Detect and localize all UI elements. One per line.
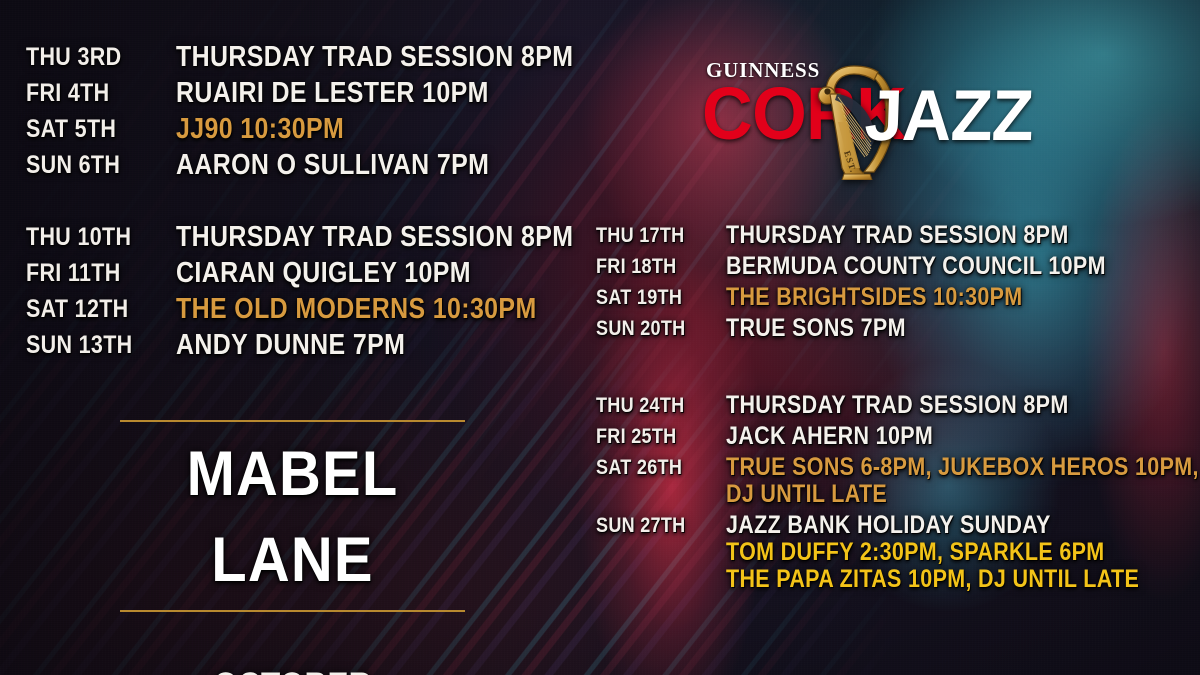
listing-event: THURSDAY TRAD SESSION 8PM	[176, 42, 573, 73]
listing-row: THU 10THTHURSDAY TRAD SESSION 8PM	[26, 222, 638, 253]
listing-event: RUAIRI DE LESTER 10PM	[176, 78, 489, 109]
listing-date: SAT 26TH	[596, 454, 708, 481]
listing-event-line: THE PAPA ZITAS 10PM, DJ UNTIL LATE	[726, 566, 1139, 593]
venue-lockup: MABEL LANE OCTOBER ENTERTAINMENT	[120, 420, 465, 675]
listing-date: THU 24TH	[596, 392, 708, 419]
listing-event-line: JJ90 10:30PM	[176, 114, 344, 145]
listing-event: THURSDAY TRAD SESSION 8PM	[176, 222, 573, 253]
listing-row: THU 3RDTHURSDAY TRAD SESSION 8PM	[26, 42, 638, 73]
listing-event-line: TOM DUFFY 2:30PM, SPARKLE 6PM	[726, 539, 1139, 566]
listing-event-line: THURSDAY TRAD SESSION 8PM	[176, 42, 573, 73]
listing-date: THU 10TH	[26, 222, 155, 252]
listing-row: SUN 27THJAZZ BANK HOLIDAY SUNDAYTOM DUFF…	[596, 512, 1200, 593]
listing-row: FRI 25THJACK AHERN 10PM	[596, 423, 1200, 450]
listing-block-week-1: THU 3RDTHURSDAY TRAD SESSION 8PMFRI 4THR…	[26, 42, 638, 186]
listing-date: SAT 5TH	[26, 114, 155, 144]
listing-event-line: TRUE SONS 7PM	[726, 315, 906, 342]
listing-date: THU 3RD	[26, 42, 155, 72]
listing-event-line: THE BRIGHTSIDES 10:30PM	[726, 284, 1023, 311]
listing-row: SUN 6THAARON O SULLIVAN 7PM	[26, 150, 638, 181]
listing-event-line: AARON O SULLIVAN 7PM	[176, 150, 489, 181]
venue-name: MABEL LANE	[134, 431, 451, 603]
listing-row: FRI 18THBERMUDA COUNTY COUNCIL 10PM	[596, 253, 1168, 280]
listing-row: SAT 26THTRUE SONS 6-8PM, JUKEBOX HEROS 1…	[596, 454, 1200, 508]
listing-date: SAT 19TH	[596, 284, 708, 311]
listing-event: THE BRIGHTSIDES 10:30PM	[726, 284, 1023, 311]
listing-row: SUN 13THANDY DUNNE 7PM	[26, 330, 638, 361]
listing-event: CIARAN QUIGLEY 10PM	[176, 258, 471, 289]
listing-event-line: TRUE SONS 6-8PM, JUKEBOX HEROS 10PM,	[726, 454, 1199, 481]
listing-event-line: THURSDAY TRAD SESSION 8PM	[176, 222, 573, 253]
listing-event-line: CIARAN QUIGLEY 10PM	[176, 258, 471, 289]
listing-block-week-3: THU 17THTHURSDAY TRAD SESSION 8PMFRI 18T…	[596, 222, 1168, 346]
listing-date: FRI 25TH	[596, 423, 708, 450]
listing-row: SUN 20THTRUE SONS 7PM	[596, 315, 1168, 342]
listing-event: TRUE SONS 7PM	[726, 315, 906, 342]
listing-row: SAT 5THJJ90 10:30PM	[26, 114, 638, 145]
listing-event: THE OLD MODERNS 10:30PM	[176, 294, 537, 325]
listing-event: JAZZ BANK HOLIDAY SUNDAYTOM DUFFY 2:30PM…	[726, 512, 1139, 593]
listing-event-line: BERMUDA COUNTY COUNCIL 10PM	[726, 253, 1106, 280]
guinness-cork-jazz-logo: GUINNESS CORK	[700, 50, 985, 180]
listing-event: AARON O SULLIVAN 7PM	[176, 150, 489, 181]
listing-date: SAT 12TH	[26, 294, 155, 324]
listing-date: FRI 4TH	[26, 78, 155, 108]
listing-row: SAT 12THTHE OLD MODERNS 10:30PM	[26, 294, 638, 325]
listing-date: SUN 13TH	[26, 330, 155, 360]
listing-date: FRI 18TH	[596, 253, 708, 280]
listing-event-line: JAZZ BANK HOLIDAY SUNDAY	[726, 512, 1139, 539]
listing-block-week-4: THU 24THTHURSDAY TRAD SESSION 8PMFRI 25T…	[596, 392, 1200, 597]
listing-row: FRI 11THCIARAN QUIGLEY 10PM	[26, 258, 638, 289]
logo-jazz-wordmark: JAZZ	[864, 80, 1035, 152]
listing-date: SUN 27TH	[596, 512, 708, 539]
listing-event-line: ANDY DUNNE 7PM	[176, 330, 405, 361]
listing-date: FRI 11TH	[26, 258, 155, 288]
listing-event-line: THURSDAY TRAD SESSION 8PM	[726, 392, 1069, 419]
listing-event-line: DJ UNTIL LATE	[726, 481, 1199, 508]
listing-row: THU 24THTHURSDAY TRAD SESSION 8PM	[596, 392, 1200, 419]
listing-event: JACK AHERN 10PM	[726, 423, 933, 450]
listing-row: SAT 19THTHE BRIGHTSIDES 10:30PM	[596, 284, 1168, 311]
listing-row: THU 17THTHURSDAY TRAD SESSION 8PM	[596, 222, 1168, 249]
listing-event: ANDY DUNNE 7PM	[176, 330, 405, 361]
listing-date: THU 17TH	[596, 222, 708, 249]
event-poster: THU 3RDTHURSDAY TRAD SESSION 8PMFRI 4THR…	[0, 0, 1200, 675]
venue-subtitle: OCTOBER ENTERTAINMENT	[137, 664, 448, 675]
listing-event: THURSDAY TRAD SESSION 8PM	[726, 392, 1069, 419]
listing-event-line: THE OLD MODERNS 10:30PM	[176, 294, 537, 325]
listing-row: FRI 4THRUAIRI DE LESTER 10PM	[26, 78, 638, 109]
listing-event: THURSDAY TRAD SESSION 8PM	[726, 222, 1069, 249]
listing-event: JJ90 10:30PM	[176, 114, 344, 145]
listing-date: SUN 6TH	[26, 150, 155, 180]
listing-event-line: JACK AHERN 10PM	[726, 423, 933, 450]
listing-event: TRUE SONS 6-8PM, JUKEBOX HEROS 10PM,DJ U…	[726, 454, 1199, 508]
listing-event: BERMUDA COUNTY COUNCIL 10PM	[726, 253, 1106, 280]
divider-bottom	[120, 610, 465, 612]
divider-top	[120, 420, 465, 422]
listing-event-line: RUAIRI DE LESTER 10PM	[176, 78, 489, 109]
listing-date: SUN 20TH	[596, 315, 708, 342]
listing-block-week-2: THU 10THTHURSDAY TRAD SESSION 8PMFRI 11T…	[26, 222, 638, 366]
listing-event-line: THURSDAY TRAD SESSION 8PM	[726, 222, 1069, 249]
